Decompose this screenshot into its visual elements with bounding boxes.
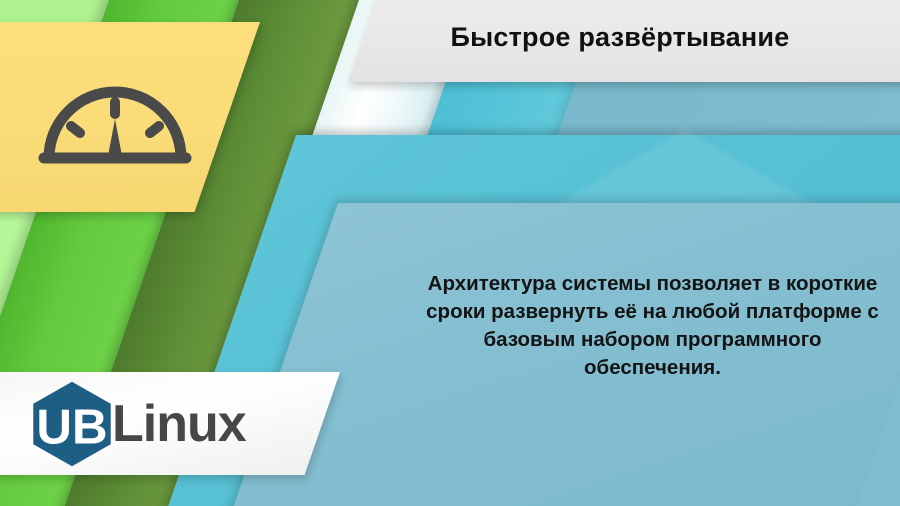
logo-wordmark: Linux [112, 398, 246, 450]
body-paragraph: Архитектура системы позволяет в короткие… [420, 270, 885, 382]
svg-text:UB: UB [36, 399, 107, 454]
slide-canvas: UB Быстрое развёртывание Архитектура сис… [0, 0, 900, 506]
ub-hexagon-icon: UB [28, 380, 116, 468]
brand-logo: UB Linux [28, 381, 246, 467]
speedometer-icon [35, 62, 195, 172]
page-title: Быстрое развёртывание [370, 22, 870, 53]
